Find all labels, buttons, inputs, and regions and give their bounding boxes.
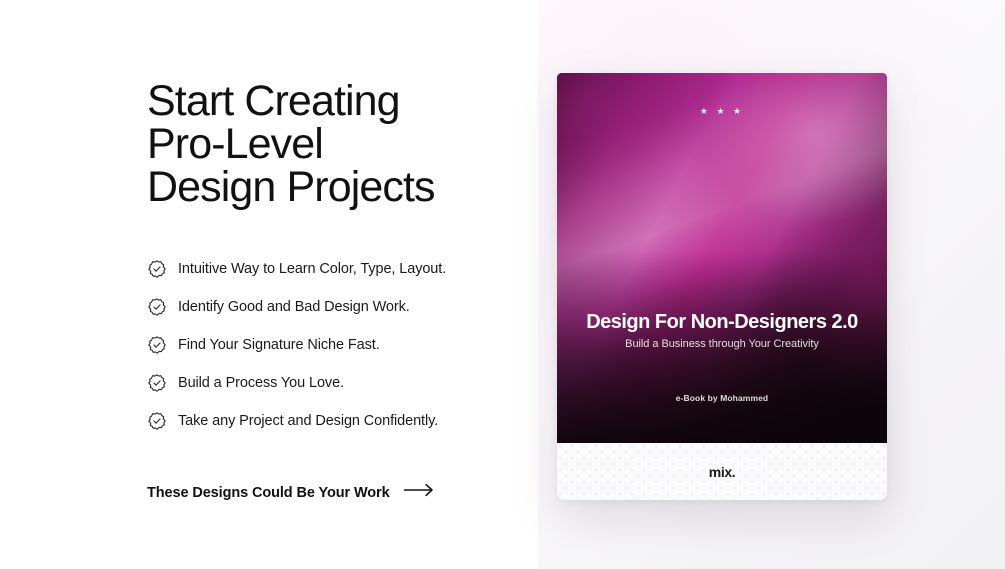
headline-line-2: Pro-Level xyxy=(147,123,527,166)
page-title: Start Creating Pro-Level Design Projects xyxy=(147,80,527,209)
list-item: Identify Good and Bad Design Work. xyxy=(147,288,547,326)
cta-label: These Designs Could Be Your Work xyxy=(147,485,390,501)
headline-line-3: Design Projects xyxy=(147,166,527,209)
feature-label: Identify Good and Bad Design Work. xyxy=(178,300,410,315)
feature-label: Build a Process You Love. xyxy=(178,376,344,391)
ebook-subtitle: Build a Business through Your Creativity xyxy=(557,338,887,350)
feature-label: Take any Project and Design Confidently. xyxy=(178,414,438,429)
badge-check-icon xyxy=(147,335,167,355)
ebook-cover: ★ ★ ★ Design For Non-Designers 2.0 Build… xyxy=(557,73,887,443)
badge-check-icon xyxy=(147,297,167,317)
headline-line-1: Start Creating xyxy=(147,80,527,123)
feature-list: Intuitive Way to Learn Color, Type, Layo… xyxy=(147,250,547,440)
hero-content: Start Creating Pro-Level Design Projects… xyxy=(147,0,527,569)
badge-check-icon xyxy=(147,411,167,431)
ebook-card[interactable]: ★ ★ ★ Design For Non-Designers 2.0 Build… xyxy=(557,73,887,500)
cover-gradient-shade xyxy=(557,73,887,443)
list-item: Intuitive Way to Learn Color, Type, Layo… xyxy=(147,250,547,288)
arrow-right-icon xyxy=(404,483,434,502)
list-item: Find Your Signature Niche Fast. xyxy=(147,326,547,364)
list-item: Build a Process You Love. xyxy=(147,364,547,402)
badge-check-icon xyxy=(147,373,167,393)
rating-stars: ★ ★ ★ xyxy=(557,106,887,117)
cta-link[interactable]: These Designs Could Be Your Work xyxy=(147,483,434,502)
ebook-title: Design For Non-Designers 2.0 xyxy=(557,311,887,334)
feature-label: Intuitive Way to Learn Color, Type, Layo… xyxy=(178,262,446,277)
feature-label: Find Your Signature Niche Fast. xyxy=(178,338,380,353)
brand-logo: mix. xyxy=(709,464,735,480)
list-item: Take any Project and Design Confidently. xyxy=(147,402,547,440)
badge-check-icon xyxy=(147,259,167,279)
ebook-author: e-Book by Mohammed xyxy=(557,393,887,403)
brand-strip: mix. xyxy=(557,443,887,500)
